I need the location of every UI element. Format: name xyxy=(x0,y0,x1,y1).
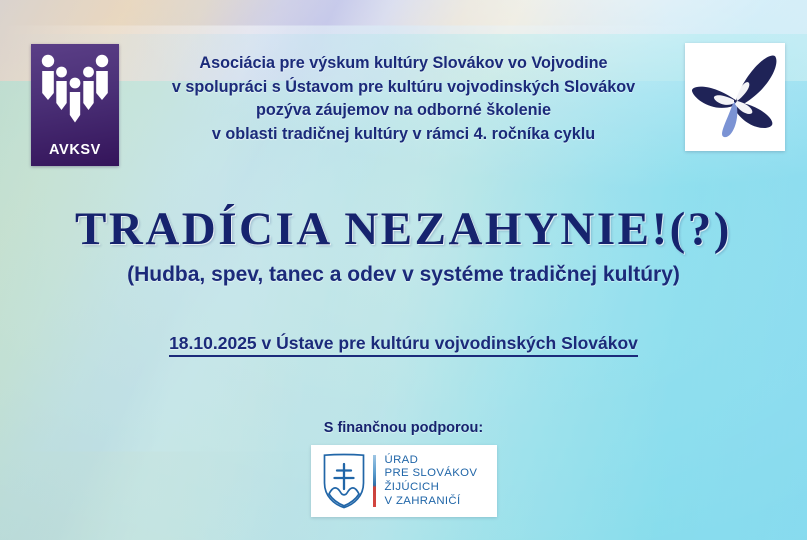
flower-emblem-icon xyxy=(685,43,785,151)
header-line-1: Asociácia pre výskum kultúry Slovákov vo… xyxy=(130,52,677,76)
header-line-3: pozýva záujemov na odborné školenie xyxy=(130,99,677,123)
support-label: S finančnou podporou: xyxy=(0,420,807,436)
slovak-shield-icon xyxy=(320,452,368,510)
urad-divider-bar xyxy=(373,455,376,507)
header-text: Asociácia pre výskum kultúry Slovákov vo… xyxy=(130,52,677,146)
urad-line-2: PRE SLOVÁKOV xyxy=(385,467,478,481)
page-title: TRADÍCIA NEZAHYNIE!(?) xyxy=(0,203,807,255)
date-venue-line: 18.10.2025 v Ústave pre kultúru vojvodin… xyxy=(0,333,807,354)
urad-line-3: ŽIJÚCICH xyxy=(385,481,478,495)
urad-logo: ÚRAD PRE SLOVÁKOV ŽIJÚCICH V ZAHRANIČÍ xyxy=(311,445,497,517)
avksv-logo: AVKSV xyxy=(31,44,119,166)
urad-line-1: ÚRAD xyxy=(385,454,478,468)
urad-text-block: ÚRAD PRE SLOVÁKOV ŽIJÚCICH V ZAHRANIČÍ xyxy=(385,454,478,508)
page-subtitle: (Hudba, spev, tanec a odev v systéme tra… xyxy=(0,263,807,287)
header-line-2: v spolupráci s Ústavom pre kultúru vojvo… xyxy=(130,76,677,100)
poster-canvas: AVKSV xyxy=(0,0,807,540)
avksv-label: AVKSV xyxy=(31,142,119,158)
header-line-4: v oblasti tradičnej kultúry v rámci 4. r… xyxy=(130,123,677,147)
date-venue-text: 18.10.2025 v Ústave pre kultúru vojvodin… xyxy=(169,333,638,357)
urad-line-4: V ZAHRANIČÍ xyxy=(385,495,478,509)
avksv-figures-icon xyxy=(31,50,119,138)
flower-logo xyxy=(685,43,785,151)
